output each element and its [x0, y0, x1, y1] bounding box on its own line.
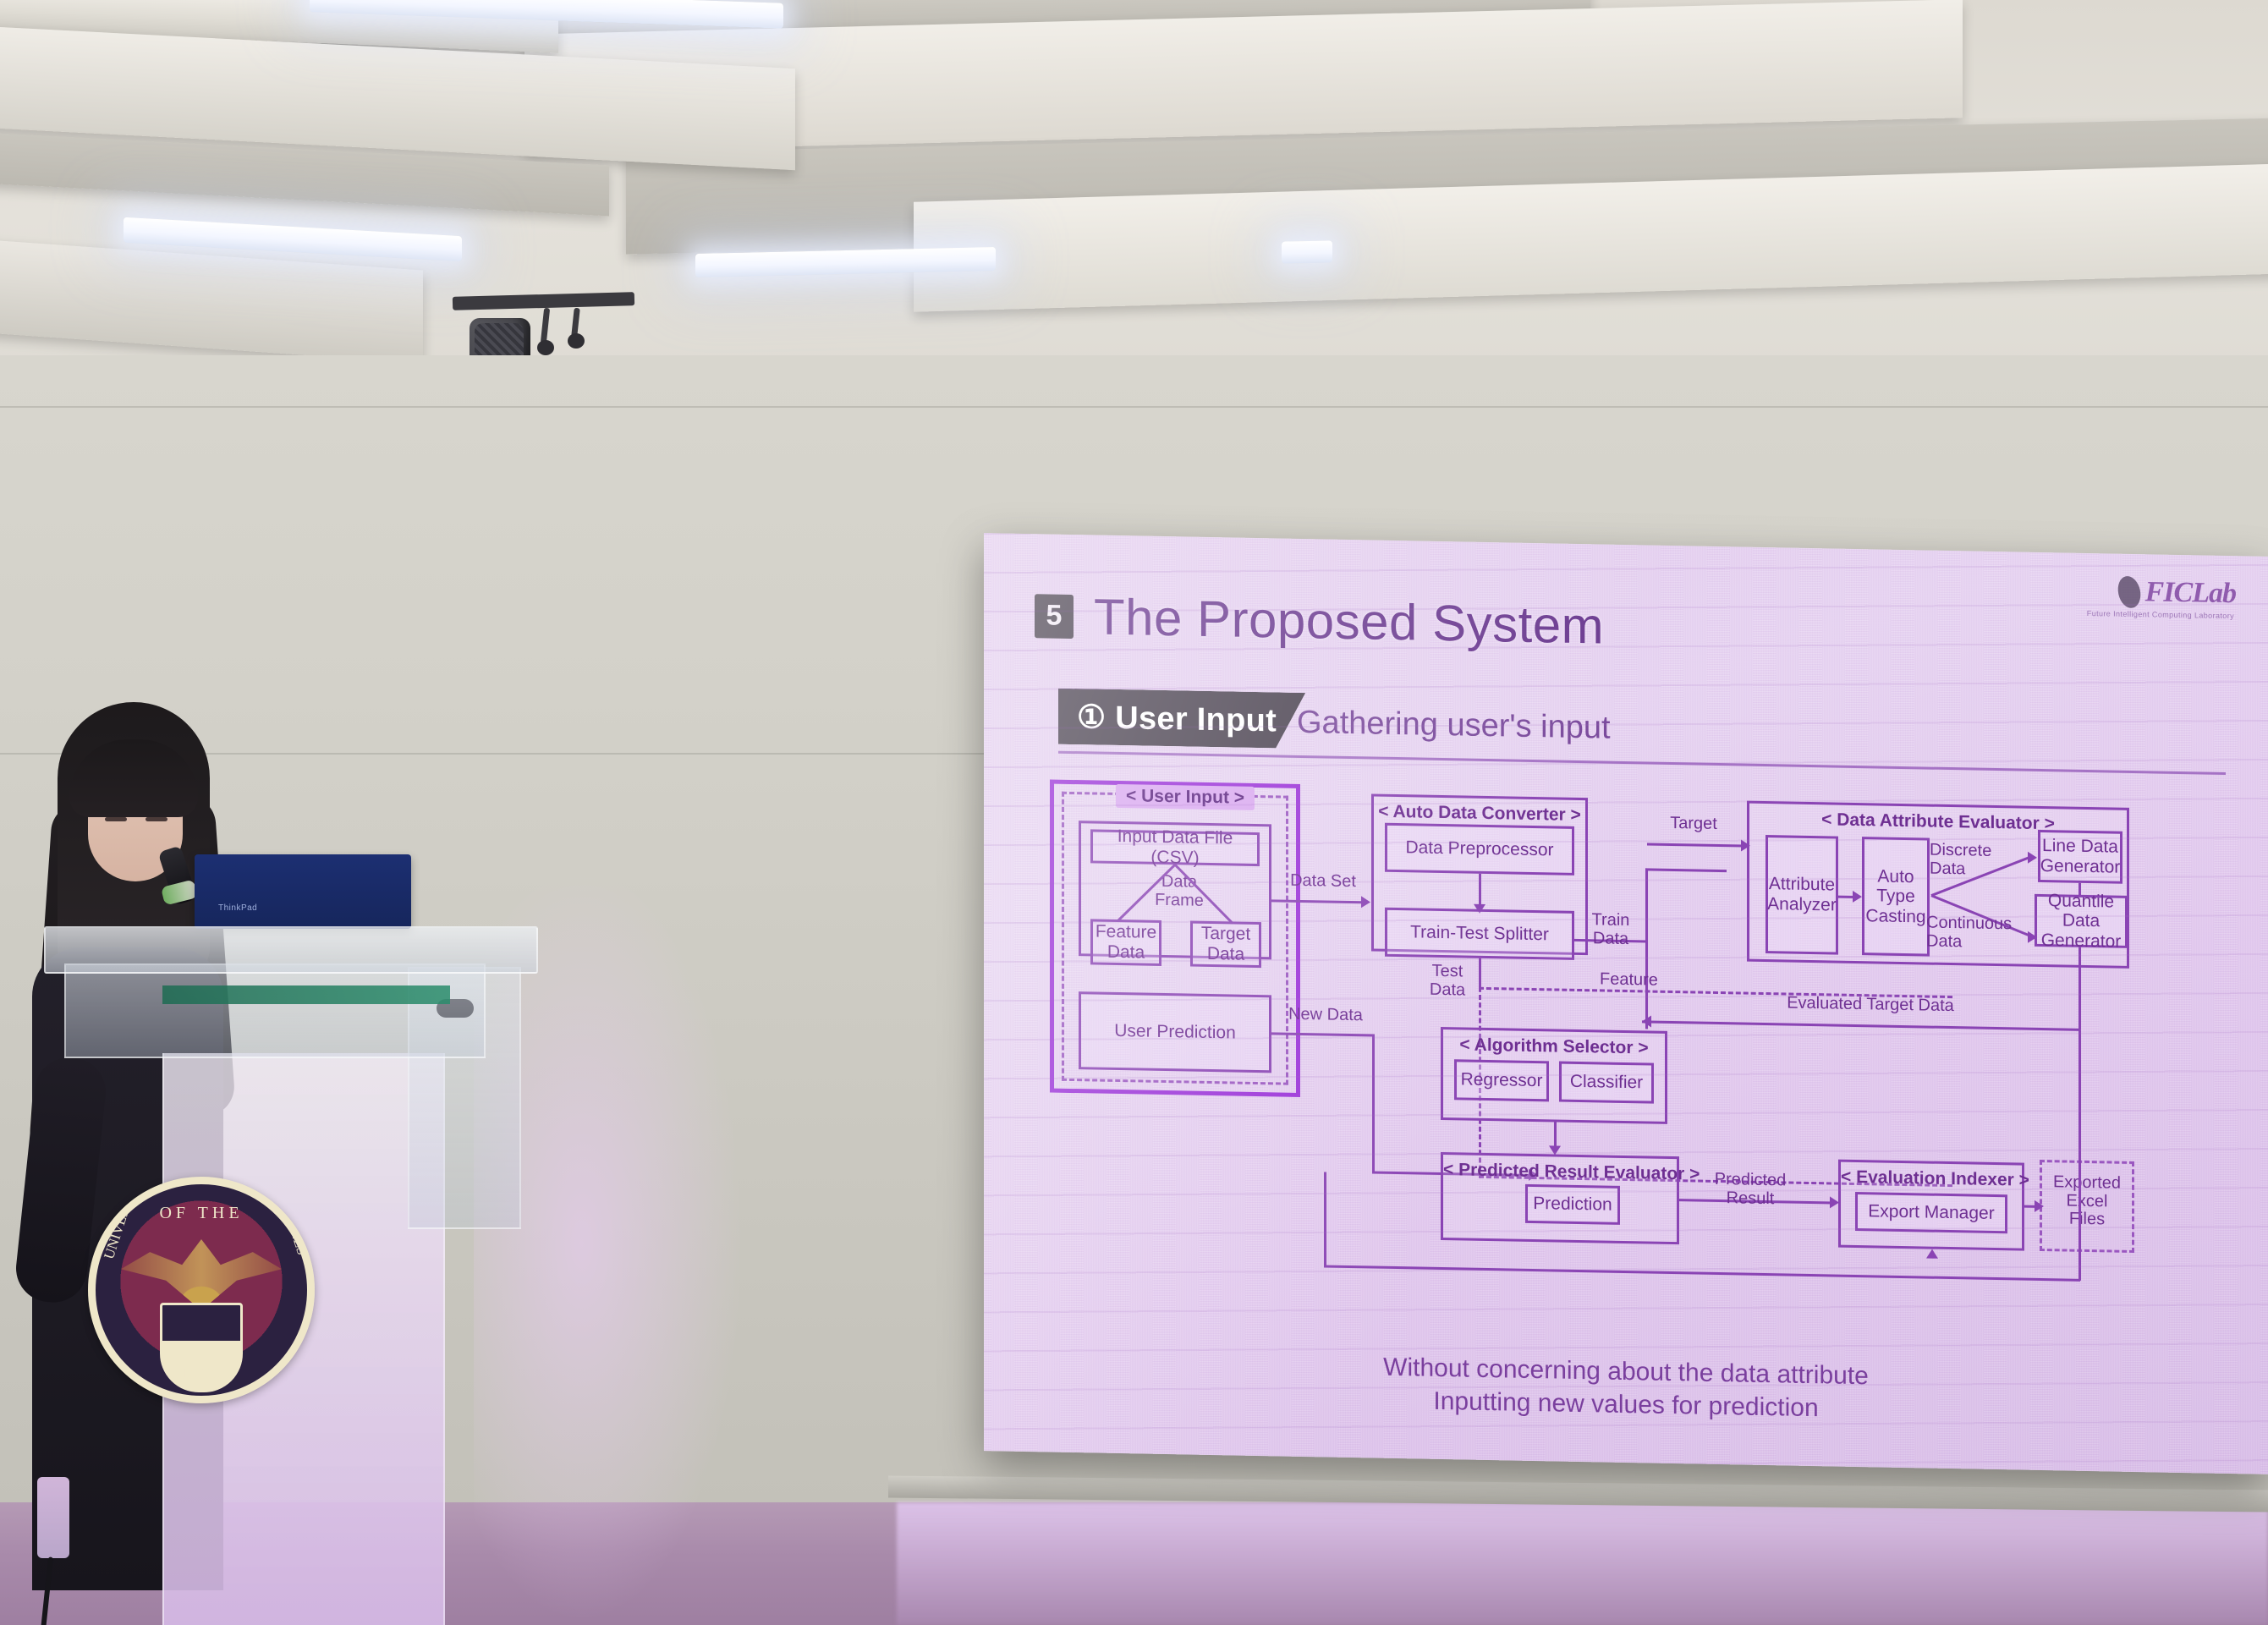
- eye: [105, 817, 127, 821]
- floor-reflection: [897, 1502, 2268, 1625]
- node-input-data-file: Input Data File (CSV): [1090, 829, 1260, 866]
- arrow-icon: [2035, 1200, 2044, 1212]
- slide: 5 The Proposed System FICLab Future Inte…: [984, 533, 2268, 1474]
- group-title-evaluation-indexer: < Evaluation Indexer >: [1841, 1167, 2022, 1191]
- edge-train-data-up: [1645, 868, 1648, 941]
- node-line-data-generator: Line Data Generator: [2038, 830, 2122, 884]
- node-prediction: Prediction: [1525, 1184, 1620, 1225]
- seal-year: 1908: [96, 1364, 307, 1383]
- node-train-test-splitter: Train-Test Splitter: [1385, 908, 1574, 960]
- ficlab-logo: FICLab Future Intelligent Computing Labo…: [2118, 576, 2236, 611]
- slide-header: 5 The Proposed System: [1035, 586, 1604, 655]
- arrow-icon: [1853, 891, 1862, 903]
- university-seal: OF THE UNIVERSITY PHILIPPINES 1908: [88, 1177, 315, 1403]
- logo-wordmark: FICLab: [2145, 576, 2236, 610]
- laptop-brand-label: ThinkPad: [218, 903, 257, 913]
- spotlight-knob: [537, 340, 554, 355]
- fluorescent-light: [1282, 240, 1332, 263]
- step-badge: ① User Input: [1058, 689, 1305, 749]
- projection-screen: 5 The Proposed System FICLab Future Inte…: [984, 533, 2268, 1474]
- slide-surface: 5 The Proposed System FICLab Future Inte…: [984, 533, 2268, 1474]
- group-title-auto-data-converter: < Auto Data Converter >: [1374, 802, 1585, 826]
- node-feature-data: Feature Data: [1090, 919, 1161, 966]
- edge-label-discrete-data: Discrete Data: [1930, 842, 2016, 880]
- eagle-icon: [121, 1239, 282, 1310]
- podium-top: [44, 926, 538, 974]
- node-quantile-data-generator: Quantile Data Generator: [2035, 894, 2128, 948]
- edge-label-new-data: New Data: [1275, 1005, 1376, 1025]
- edge-line-to-quantile: [2079, 883, 2081, 897]
- group-title-predicted-result-evaluator: < Predicted Result Evaluator >: [1443, 1160, 1677, 1184]
- node-data-preprocessor: Data Preprocessor: [1385, 823, 1574, 876]
- arrow-icon: [2028, 852, 2037, 864]
- ceiling-beam: [0, 237, 423, 363]
- group-title-algorithm-selector: < Algorithm Selector >: [1443, 1035, 1665, 1059]
- logo-tagline: Future Intelligent Computing Laboratory: [2087, 609, 2234, 620]
- node-user-prediction: User Prediction: [1079, 991, 1271, 1073]
- node-regressor: Regressor: [1454, 1059, 1549, 1101]
- architecture-diagram: < User Input > Input Data File (CSV) Dat…: [1050, 773, 2251, 1303]
- edge-label-continuous-data: Continuous Data: [1926, 914, 2026, 952]
- edge-return-vert: [2079, 1030, 2081, 1281]
- edge-evaluated-target-vert: [2079, 947, 2081, 1030]
- laptop: ThinkPad: [195, 854, 411, 929]
- label-exported-excel-files: Exported Excel Files: [2041, 1173, 2133, 1230]
- edge-label-data-set: Data Set: [1277, 871, 1370, 892]
- edge-return-horizontal: [1324, 1265, 2080, 1281]
- header-divider: [1058, 751, 2226, 775]
- arrow-icon: [1926, 1249, 1938, 1259]
- edge-label-feature: Feature: [1600, 970, 1693, 991]
- presentation-photo: 5 The Proposed System FICLab Future Inte…: [0, 0, 2268, 1625]
- node-export-manager: Export Manager: [1855, 1192, 2007, 1233]
- edge-label-train-data: Train Data: [1576, 911, 1645, 949]
- arrow-icon: [1642, 1015, 1651, 1027]
- section-number-badge: 5: [1035, 594, 1074, 639]
- edge-label-test-data: Test Data: [1414, 962, 1481, 1000]
- podium-glass-panel: [64, 963, 486, 1058]
- spotlight-knob: [568, 333, 585, 349]
- logo-ellipse-icon: [2115, 574, 2143, 610]
- spotlight-arm: [541, 308, 550, 344]
- edge-label-target: Target: [1647, 814, 1740, 834]
- page-title: The Proposed System: [1094, 587, 1604, 655]
- edge-train-data-top: [1645, 868, 1727, 872]
- node-auto-type-casting: Auto Type Casting: [1862, 837, 1930, 956]
- arrow-icon: [1361, 896, 1370, 908]
- data-frame-split-lines: [1090, 861, 1260, 927]
- node-target-data: Target Data: [1190, 921, 1261, 969]
- podium: ThinkPad OF THE UNIVERSITY PHILIPPINES 1…: [44, 926, 535, 1625]
- slide-footnotes: Without concerning about the data attrib…: [984, 1343, 2268, 1434]
- eye: [146, 817, 167, 821]
- edge-new-data-vert: [1372, 1035, 1375, 1173]
- node-classifier: Classifier: [1559, 1062, 1654, 1104]
- step-subtitle: Gathering user's input: [1297, 705, 1611, 747]
- podium-green-strip: [162, 985, 450, 1004]
- edge-target: [1647, 843, 1744, 847]
- edge-return-left-vert: [1324, 1172, 1326, 1266]
- edge-label-predicted-result: Predicted Result: [1683, 1170, 1818, 1209]
- user-input-group-title: < User Input >: [1116, 784, 1255, 810]
- node-attribute-analyzer: Attribute Analyzer: [1766, 835, 1838, 955]
